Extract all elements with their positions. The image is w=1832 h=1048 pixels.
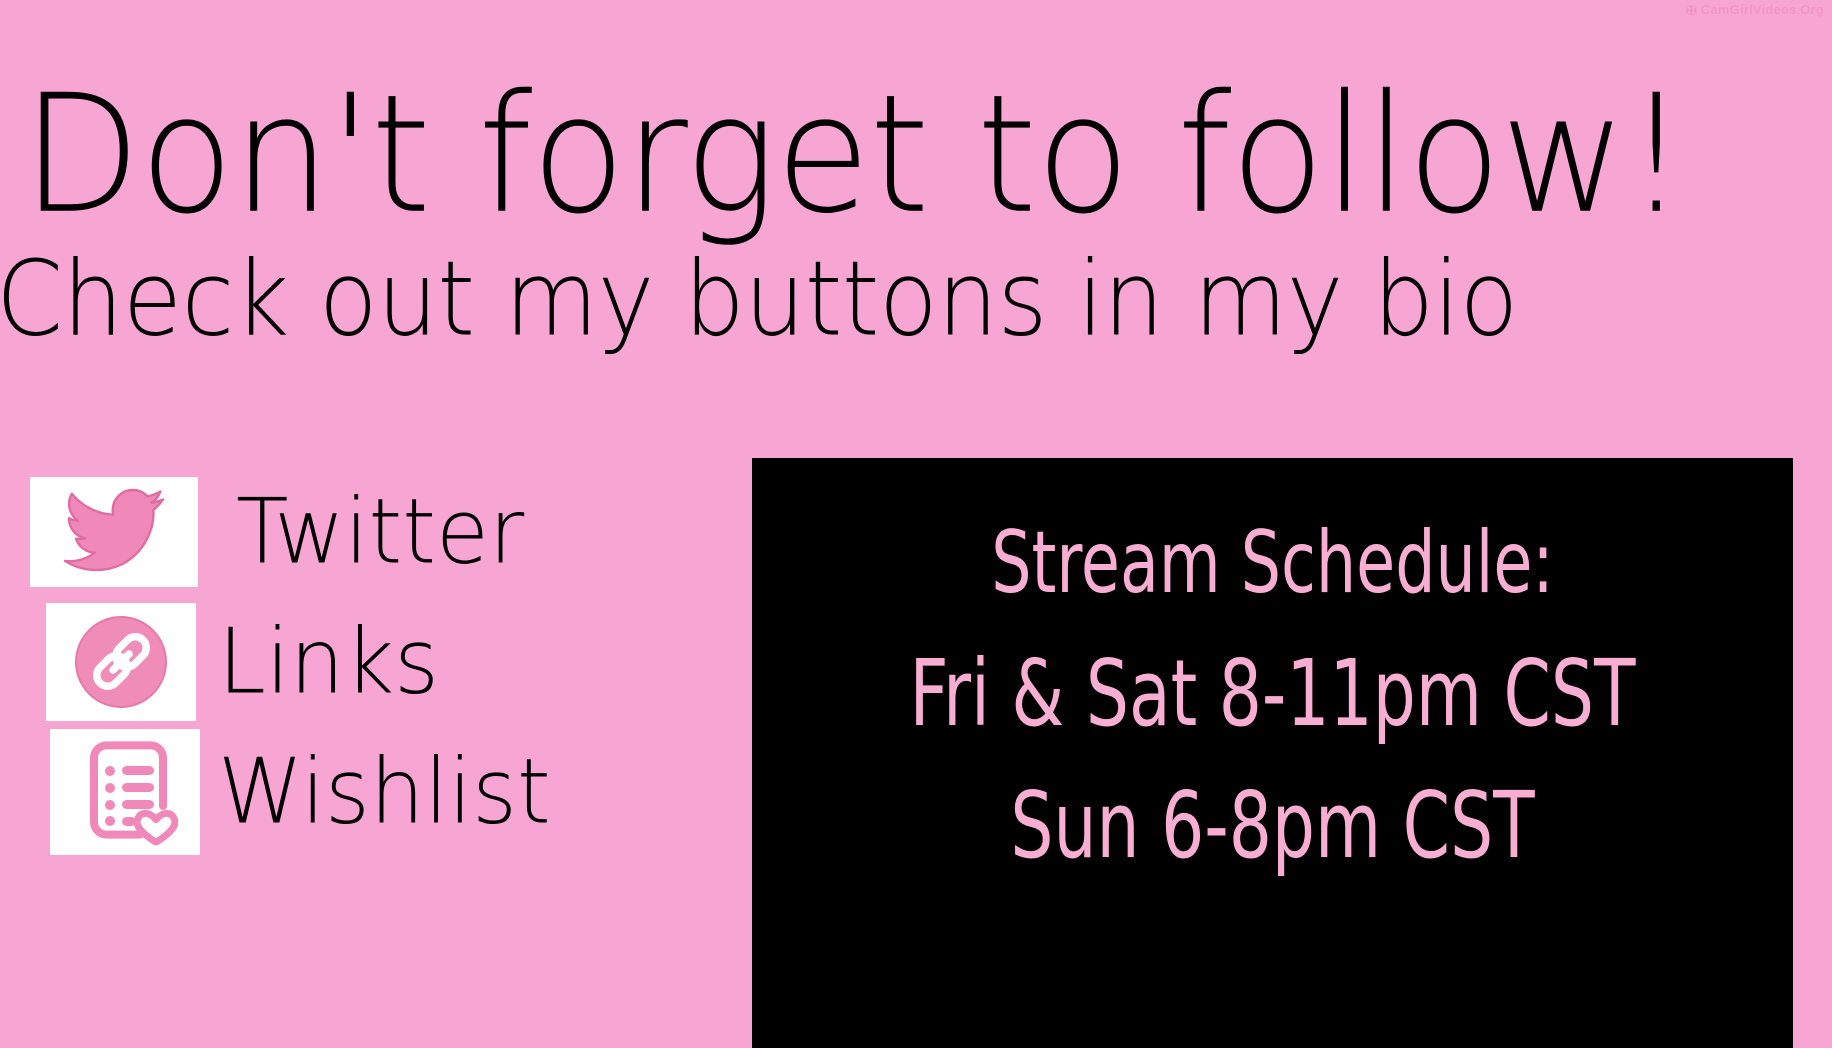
list-item-twitter[interactable]: Twitter bbox=[30, 470, 524, 594]
chain-link-icon bbox=[69, 610, 173, 714]
list-item-wishlist[interactable]: Wishlist bbox=[50, 730, 551, 854]
list-item-label: Wishlist bbox=[218, 747, 551, 837]
watermark-text: CamGirlVideos.Org bbox=[1701, 2, 1824, 17]
list-item-label: Links bbox=[218, 617, 439, 707]
page-subtitle: Check out my buttons in my bio bbox=[0, 247, 1518, 351]
twitter-bird-icon bbox=[59, 486, 169, 578]
site-watermark: ✠ CamGirlVideos.Org bbox=[1686, 2, 1824, 17]
wishlist-badge[interactable] bbox=[50, 729, 200, 855]
schedule-line-sunday: Sun 6-8pm CST bbox=[846, 780, 1700, 872]
list-item-label: Twitter bbox=[236, 487, 524, 577]
schedule-heading: Stream Schedule: bbox=[846, 520, 1700, 606]
twitter-badge[interactable] bbox=[30, 477, 198, 587]
wishlist-clipboard-heart-icon bbox=[72, 736, 178, 848]
list-item-links[interactable]: Links bbox=[46, 600, 439, 724]
stream-overlay-canvas: ✠ CamGirlVideos.Org Don't forget to foll… bbox=[0, 0, 1832, 1048]
watermark-logo-icon: ✠ bbox=[1686, 4, 1698, 16]
stream-schedule-panel: Stream Schedule: Fri & Sat 8-11pm CST Su… bbox=[752, 458, 1793, 1048]
schedule-line-weekend: Fri & Sat 8-11pm CST bbox=[846, 648, 1700, 740]
links-badge[interactable] bbox=[46, 603, 196, 721]
page-title: Don't forget to follow! bbox=[22, 74, 1686, 237]
